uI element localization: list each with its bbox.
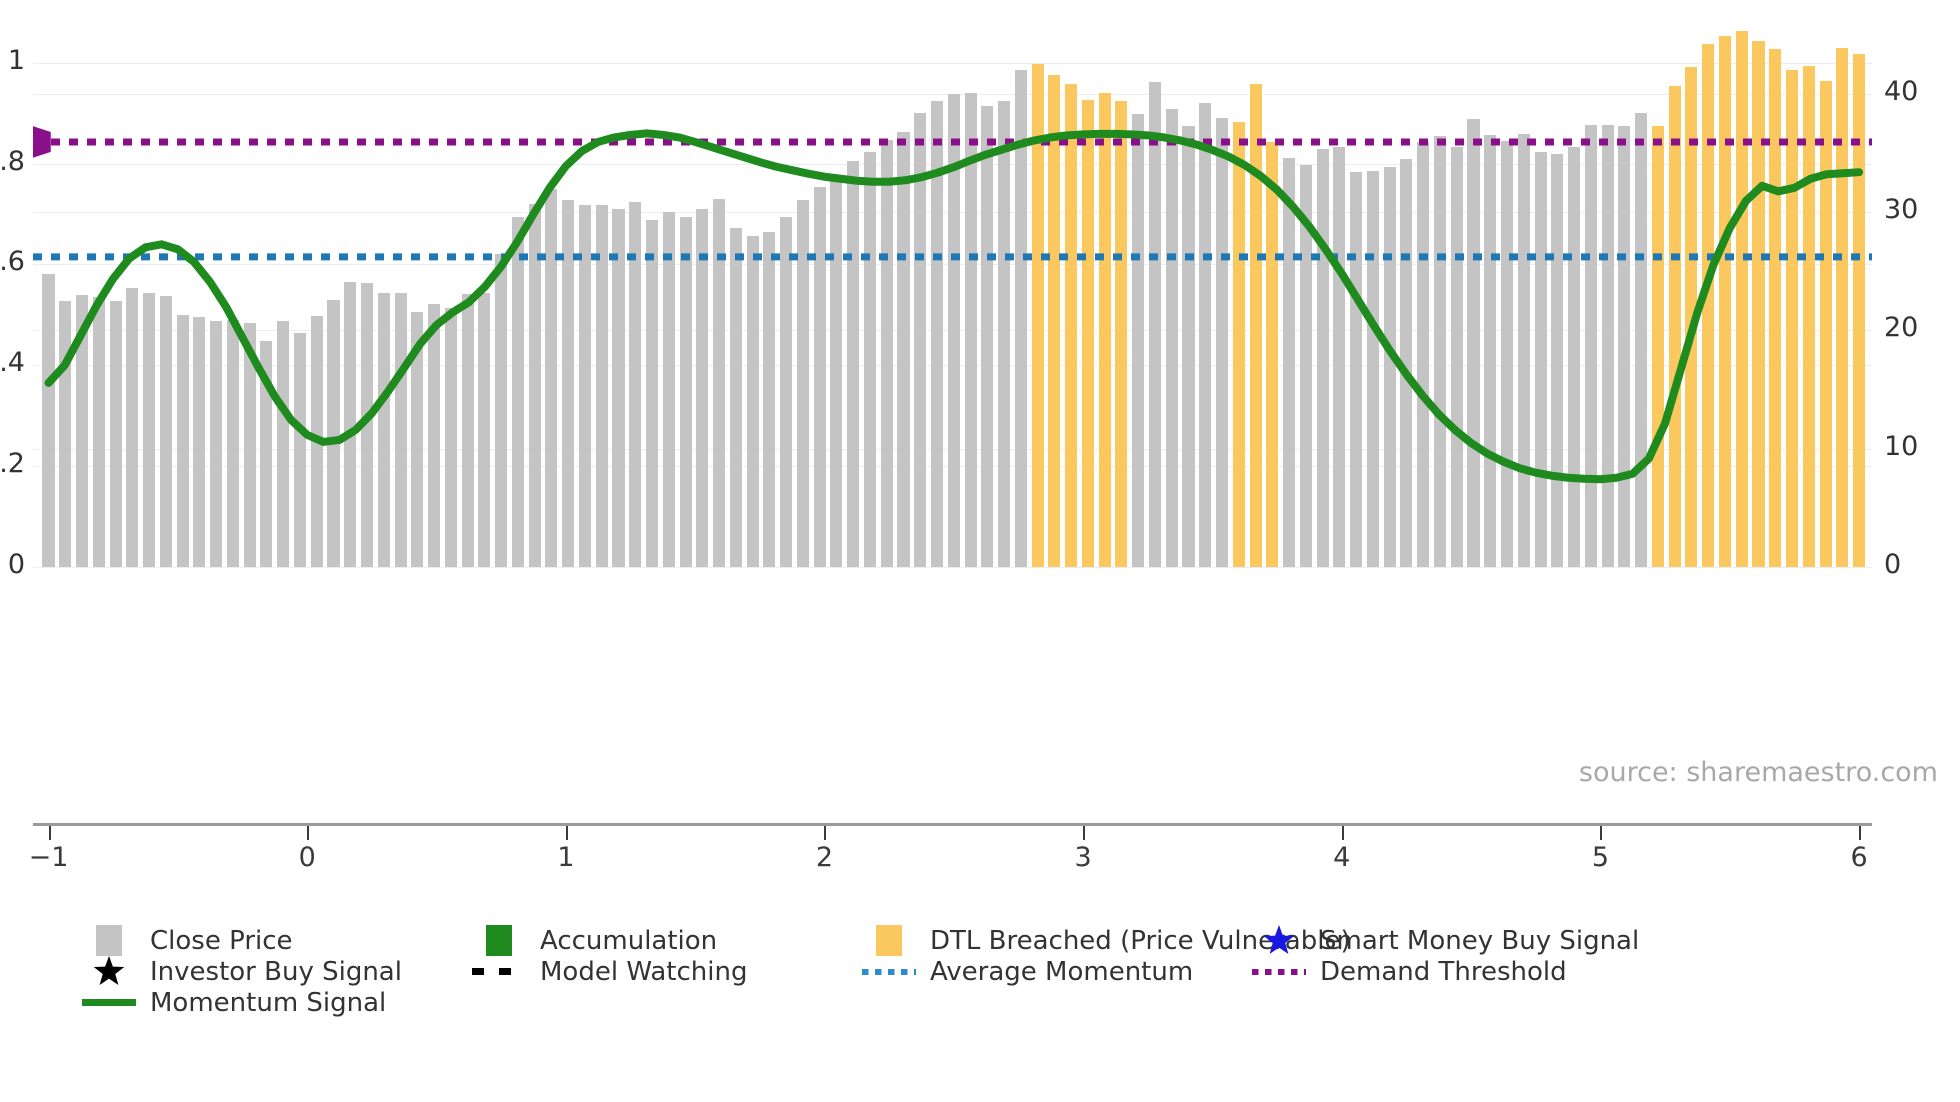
legend-dotted-line-icon (862, 969, 916, 975)
legend-item-accumulation[interactable]: Accumulation (468, 925, 717, 956)
legend-dashed-line-icon (472, 968, 526, 975)
y-axis-right: 010203040 (1884, 30, 1954, 567)
legend-dotted-line (1248, 956, 1310, 987)
legend-dotted-line (858, 956, 920, 987)
legend-swatch (78, 925, 140, 956)
legend-label: Momentum Signal (150, 988, 386, 1018)
legend-label: Close Price (150, 926, 293, 956)
y-axis-left-tick-label: 0.8 (0, 146, 25, 177)
legend-label: Accumulation (540, 926, 717, 956)
legend-line (78, 987, 140, 1018)
y-axis-right-tick-label: 10 (1884, 431, 1918, 462)
legend-row: Investor Buy SignalModel WatchingAverage… (78, 956, 1948, 987)
legend-swatch-icon (96, 925, 122, 956)
legend-line-icon (82, 999, 136, 1006)
legend-swatch-icon (486, 925, 512, 956)
x-axis-tick (1083, 826, 1085, 840)
legend-label: Model Watching (540, 957, 747, 987)
legend-item-momentum-signal[interactable]: Momentum Signal (78, 987, 386, 1018)
legend-item-close-price[interactable]: Close Price (78, 925, 293, 956)
x-axis-tick (824, 826, 826, 840)
y-axis-left-tick-label: 1 (8, 45, 25, 76)
x-axis-tick-label: 5 (1592, 842, 1609, 873)
x-axis-tick (49, 826, 51, 840)
gridline (33, 567, 1872, 568)
x-axis-tick (1600, 826, 1602, 840)
x-axis-tick (307, 826, 309, 840)
x-axis-tick-label: 2 (816, 842, 833, 873)
x-axis-tick-label: 0 (299, 842, 316, 873)
plot-area (33, 30, 1872, 567)
y-axis-right-tick-label: 20 (1884, 312, 1918, 343)
y-axis-left-tick-label: 0.6 (0, 246, 25, 277)
x-axis-tick (1342, 826, 1344, 840)
y-axis-left-tick-label: 0.4 (0, 347, 25, 378)
y-axis-right-tick-label: 40 (1884, 76, 1918, 107)
legend-label: Smart Money Buy Signal (1320, 926, 1639, 956)
chart-legend: Close PriceAccumulationDTL Breached (Pri… (78, 925, 1948, 1018)
x-axis-tick-label: −1 (29, 842, 69, 873)
x-axis-tick-label: 4 (1333, 842, 1350, 873)
legend-label: Demand Threshold (1320, 957, 1567, 987)
y-axis-left-tick-label: 0 (8, 549, 25, 580)
legend-item-smart-money-buy-signal[interactable]: Smart Money Buy Signal (1248, 925, 1639, 956)
x-axis-tick (1859, 826, 1861, 840)
x-axis-tick-label: 6 (1850, 842, 1867, 873)
x-axis-tick-label: 3 (1075, 842, 1092, 873)
y-axis-right-tick-label: 30 (1884, 194, 1918, 225)
chart-figure: 00.20.40.60.81 010203040 −10123456 sourc… (0, 0, 1960, 1102)
legend-label: Average Momentum (930, 957, 1193, 987)
legend-swatch (858, 925, 920, 956)
legend-item-model-watching[interactable]: Model Watching (468, 956, 747, 987)
y-axis-left: 00.20.40.60.81 (0, 30, 25, 567)
star-icon (1262, 924, 1296, 958)
legend-row: Momentum Signal (78, 987, 1948, 1018)
x-axis-tick (566, 826, 568, 840)
y-axis-left-tick-label: 0.2 (0, 448, 25, 479)
x-axis-tick-label: 1 (557, 842, 574, 873)
legend-label: Investor Buy Signal (150, 957, 402, 987)
legend-swatch-icon (876, 925, 902, 956)
y-axis-right-tick-label: 0 (1884, 549, 1901, 580)
legend-dotted-line-icon (1252, 969, 1306, 975)
legend-item-demand-threshold[interactable]: Demand Threshold (1248, 956, 1567, 987)
legend-star (1248, 925, 1310, 956)
source-note: source: sharemaestro.com (1579, 757, 1938, 788)
legend-item-average-momentum[interactable]: Average Momentum (858, 956, 1193, 987)
markers-layer (33, 30, 1872, 567)
legend-star (78, 956, 140, 987)
star-icon (92, 955, 126, 989)
legend-item-investor-buy-signal[interactable]: Investor Buy Signal (78, 956, 402, 987)
legend-swatch (468, 925, 530, 956)
legend-dashed-line (468, 956, 530, 987)
legend-row: Close PriceAccumulationDTL Breached (Pri… (78, 925, 1948, 956)
